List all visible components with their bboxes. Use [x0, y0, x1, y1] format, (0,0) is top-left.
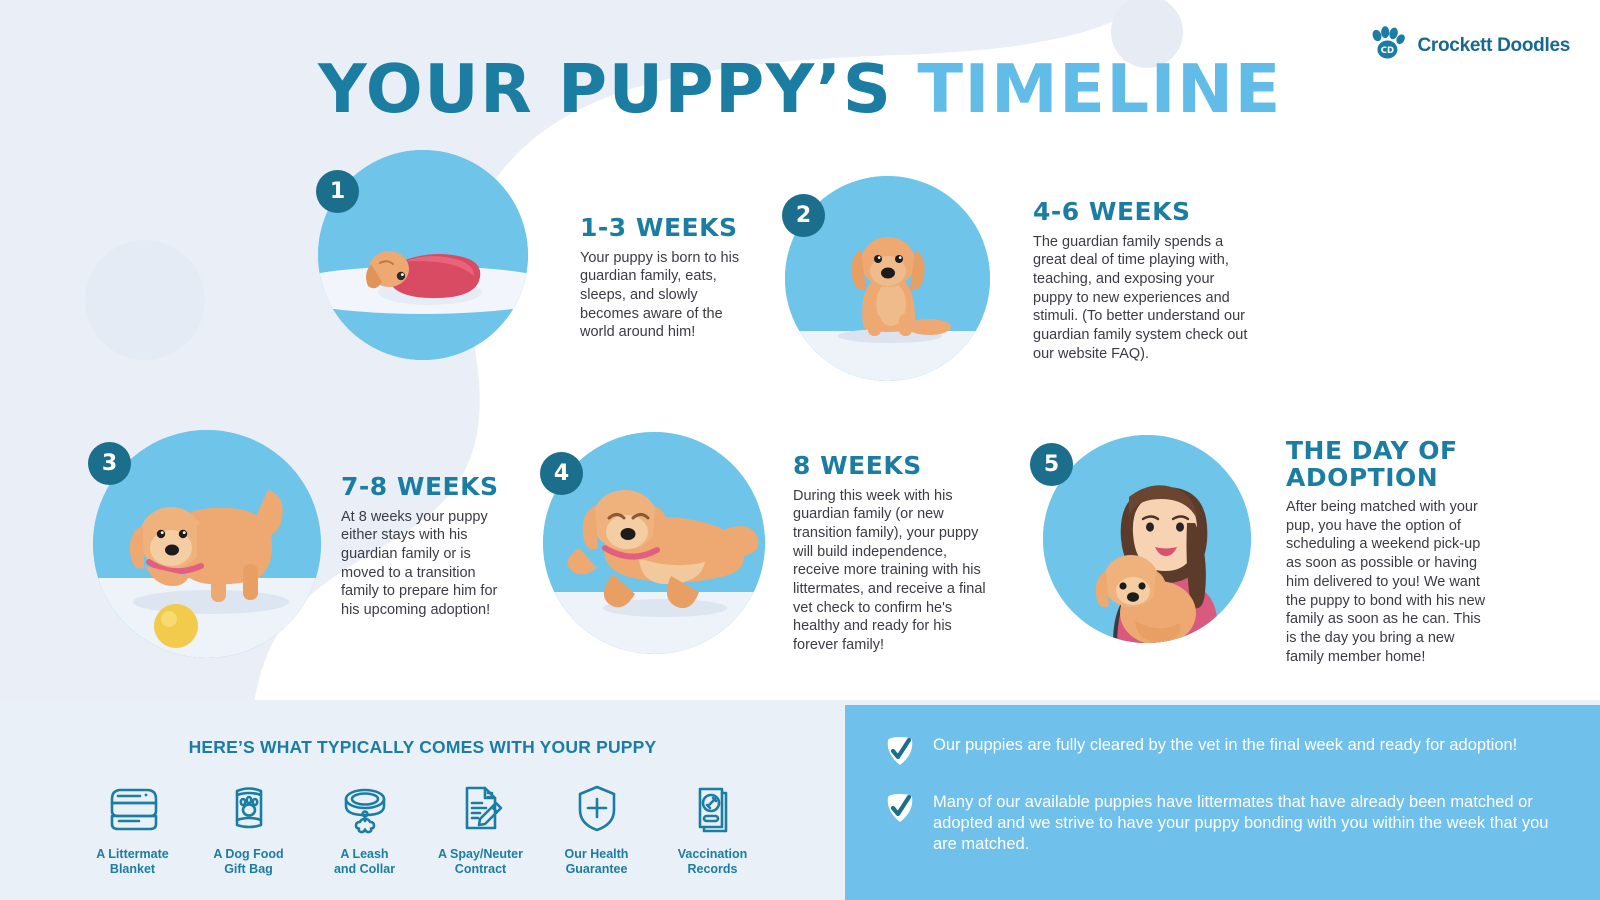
step-body: During this week with his guardian famil… — [793, 487, 993, 655]
included-item-health-guarantee[interactable]: Our Health Guarantee — [539, 775, 655, 877]
shield-plus-icon — [539, 775, 655, 837]
included-heading: HERE’S WHAT TYPICALLY COMES WITH YOUR PU… — [0, 705, 845, 758]
step-heading: 1-3 WEEKS — [580, 215, 745, 242]
included-item-spay-neuter-contract[interactable]: A Spay/Neuter Contract — [423, 775, 539, 877]
folded-blanket-icon — [75, 775, 191, 837]
included-item-label: Vaccination Records — [655, 847, 771, 877]
step-body: After being matched with your pup, you h… — [1286, 498, 1492, 666]
step-body: Your puppy is born to his guardian famil… — [580, 249, 745, 343]
assurance-item: Our puppies are fully cleared by the vet… — [885, 735, 1570, 771]
included-items-panel: HERE’S WHAT TYPICALLY COMES WITH YOUR PU… — [0, 705, 845, 900]
svg-text:CD: CD — [1381, 46, 1394, 56]
assurances-panel: Our puppies are fully cleared by the vet… — [845, 705, 1600, 900]
step-heading: 7-8 WEEKS — [341, 474, 506, 501]
included-item-vaccination-records[interactable]: Vaccination Records — [655, 775, 771, 877]
woman-holding-puppy-illustration — [1043, 435, 1251, 643]
step-heading: 8 WEEKS — [793, 453, 993, 480]
assurance-item: Many of our available puppies have litte… — [885, 792, 1570, 855]
included-item-label: A Spay/Neuter Contract — [423, 847, 539, 877]
title-part-1: YOUR PUPPY’S — [318, 50, 892, 128]
collar-with-bone-tag-icon — [307, 775, 423, 837]
step-heading: THE DAY OF ADOPTION — [1286, 438, 1492, 491]
contract-with-pencil-icon — [423, 775, 539, 837]
brand-name: Crockett Doodles — [1417, 35, 1570, 57]
included-item-dog-food[interactable]: A Dog Food Gift Bag — [191, 775, 307, 877]
step-body: The guardian family spends a great deal … — [1033, 233, 1255, 364]
vaccination-records-icon — [655, 775, 771, 837]
brand-logo[interactable]: CD Crockett Doodles — [1368, 26, 1570, 65]
included-items-row: A Littermate Blanket A Dog Food Gift Bag — [0, 775, 845, 877]
included-item-label: A Leash and Collar — [307, 847, 423, 877]
step-body: At 8 weeks your puppy either stays with … — [341, 508, 506, 620]
included-item-blanket[interactable]: A Littermate Blanket — [75, 775, 191, 877]
step-number-badge: 2 — [782, 194, 825, 237]
dog-food-bag-icon — [191, 775, 307, 837]
step-heading: 4-6 WEEKS — [1033, 199, 1255, 226]
assurance-text: Our puppies are fully cleared by the vet… — [933, 735, 1517, 771]
page-title: YOUR PUPPY’S TIMELINE — [0, 50, 1600, 128]
step-number-badge: 4 — [540, 452, 583, 495]
step-number-badge: 3 — [88, 442, 131, 485]
included-item-label: A Littermate Blanket — [75, 847, 191, 877]
included-item-leash-collar[interactable]: A Leash and Collar — [307, 775, 423, 877]
check-mark-icon — [885, 736, 915, 771]
step-number-badge: 1 — [316, 170, 359, 213]
step-number-badge: 5 — [1030, 443, 1073, 486]
included-item-label: A Dog Food Gift Bag — [191, 847, 307, 877]
included-item-label: Our Health Guarantee — [539, 847, 655, 877]
check-mark-icon — [885, 793, 915, 855]
assurance-text: Many of our available puppies have litte… — [933, 792, 1570, 855]
title-part-2: TIMELINE — [917, 50, 1282, 128]
paw-print-icon: CD — [1368, 26, 1406, 65]
